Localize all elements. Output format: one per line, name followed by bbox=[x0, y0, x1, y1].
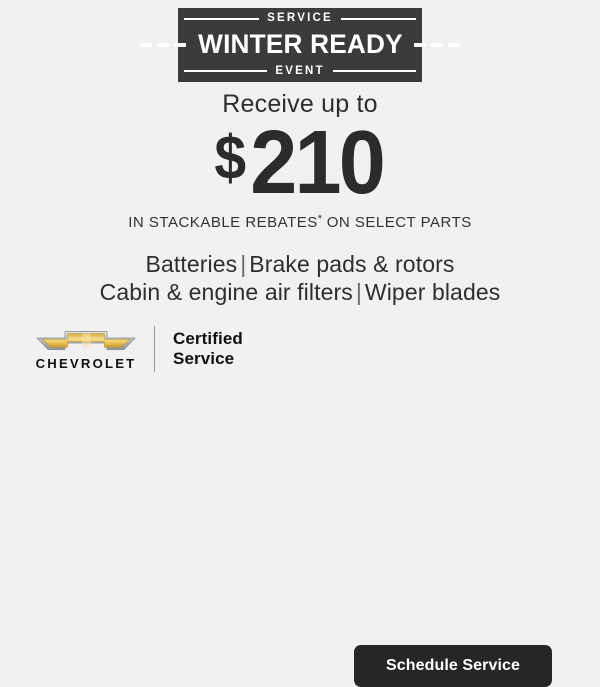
schedule-service-button[interactable]: Schedule Service bbox=[354, 645, 552, 687]
parts-item-batteries: Batteries bbox=[146, 251, 238, 277]
chevrolet-wordmark: CHEVROLET bbox=[36, 358, 137, 371]
badge-event-label: EVENT bbox=[267, 66, 332, 78]
parts-separator-2: | bbox=[353, 279, 365, 305]
rebates-line: IN STACKABLE REBATES* ON SELECT PARTS bbox=[0, 214, 600, 230]
parts-separator-1: | bbox=[237, 251, 249, 277]
chevrolet-logo: CHEVROLET bbox=[34, 327, 138, 371]
currency-symbol: $ bbox=[214, 128, 245, 190]
badge-service-label: SERVICE bbox=[259, 13, 341, 25]
rebates-text: IN STACKABLE REBATES bbox=[128, 214, 318, 231]
parts-line-2: Cabin & engine air filters|Wiper blades bbox=[0, 278, 600, 306]
dashes-left-icon bbox=[140, 43, 186, 47]
certified-line-2: Service bbox=[173, 349, 243, 369]
event-badge: SERVICE WINTER READY EVENT bbox=[178, 8, 422, 82]
footer: CHEVROLET Certified Service Schedule Ser… bbox=[0, 318, 600, 380]
amount-value: 210 bbox=[250, 118, 383, 208]
badge-rule-left-bottom bbox=[184, 70, 267, 72]
advertisement-banner: SERVICE WINTER READY EVENT Receive up to… bbox=[0, 0, 600, 400]
badge-bottom-row: EVENT bbox=[184, 66, 416, 78]
offer-amount: $210 bbox=[0, 118, 600, 208]
parts-list: Batteries|Brake pads & rotors Cabin & en… bbox=[0, 250, 600, 306]
parts-item-wipers: Wiper blades bbox=[365, 279, 500, 305]
brand-divider bbox=[154, 326, 155, 372]
parts-item-filters: Cabin & engine air filters bbox=[100, 279, 353, 305]
chevrolet-certified-service-lockup: CHEVROLET Certified Service bbox=[34, 318, 243, 380]
badge-winter-ready-label: WINTER READY bbox=[189, 31, 411, 58]
badge-rule-left bbox=[184, 18, 259, 20]
badge-top-row: SERVICE bbox=[184, 13, 416, 25]
rebates-suffix: ON SELECT PARTS bbox=[322, 214, 472, 231]
badge-rule-right bbox=[341, 18, 416, 20]
badge-main-row: WINTER READY bbox=[184, 30, 416, 60]
certified-line-1: Certified bbox=[173, 329, 243, 349]
parts-item-brakes: Brake pads & rotors bbox=[249, 251, 454, 277]
dashes-right-icon bbox=[414, 43, 460, 47]
parts-line-1: Batteries|Brake pads & rotors bbox=[0, 250, 600, 278]
chevrolet-bowtie-icon bbox=[36, 327, 136, 354]
certified-service-label: Certified Service bbox=[173, 329, 243, 369]
badge-rule-right-bottom bbox=[333, 70, 416, 72]
